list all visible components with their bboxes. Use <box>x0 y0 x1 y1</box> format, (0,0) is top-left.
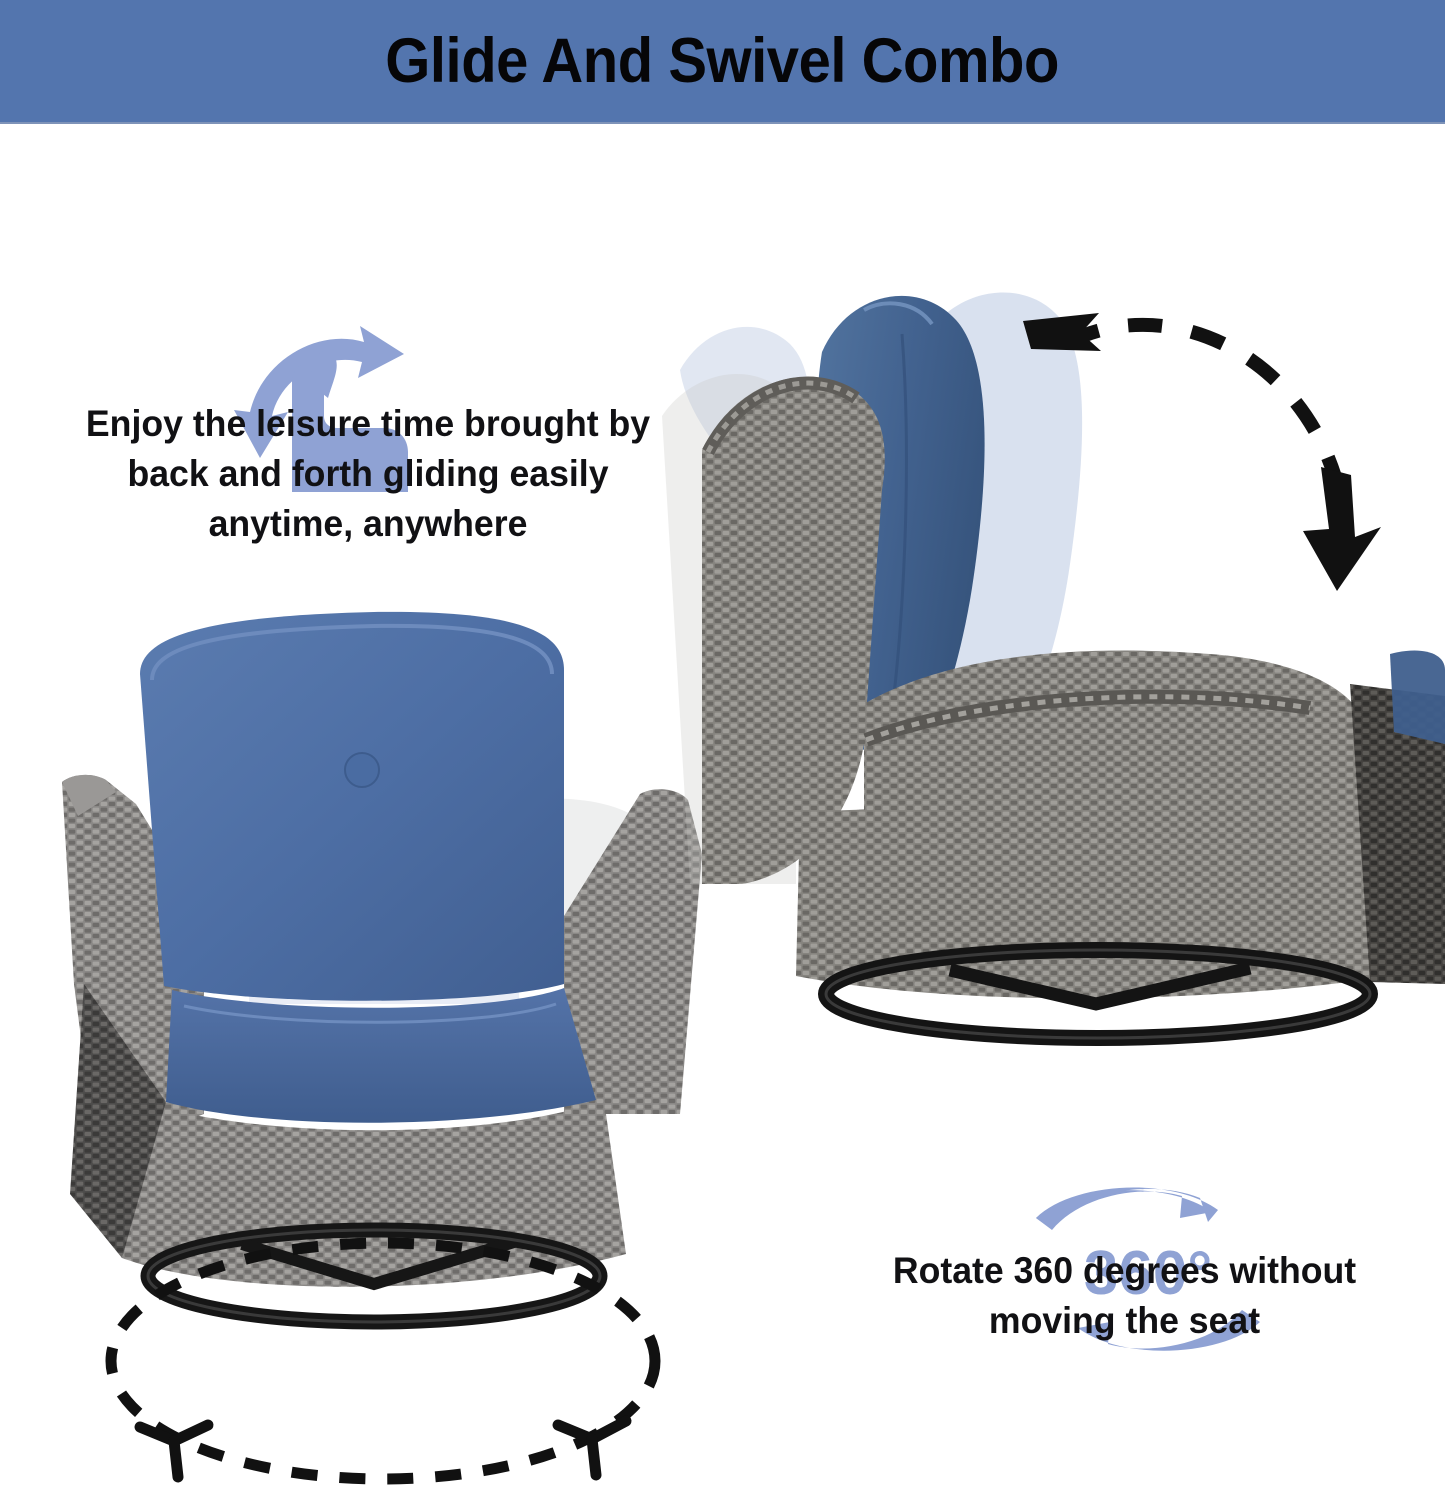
page-title: Glide And Swivel Combo <box>386 25 1060 97</box>
chair-back-wicker <box>702 377 885 884</box>
swivel-feature-caption: Rotate 360 degrees without moving the se… <box>828 1246 1422 1346</box>
swivel-arc-arrowhead-down <box>1303 467 1381 591</box>
far-side-cushion-peek <box>1390 651 1445 744</box>
glide-feature-caption: Enjoy the leisure time brought by back a… <box>64 399 672 549</box>
dashed-arc-double-arrow <box>995 289 1395 619</box>
back-cushion <box>140 612 564 1001</box>
header-banner: Glide And Swivel Combo <box>0 0 1445 124</box>
seat-cushion <box>166 988 596 1123</box>
swivel-arc-dashes <box>1067 325 1335 477</box>
dashed-ellipse-swivel-base <box>88 1229 678 1494</box>
cushion-tuft-button <box>345 753 379 787</box>
front-view-swivel-glider-chair-photo <box>44 554 744 1294</box>
rotation-dashed-ellipse <box>111 1243 655 1479</box>
rotation-arrowhead-right <box>558 1421 626 1475</box>
infographic-stage: Enjoy the leisure time brought by back a… <box>0 124 1445 1389</box>
